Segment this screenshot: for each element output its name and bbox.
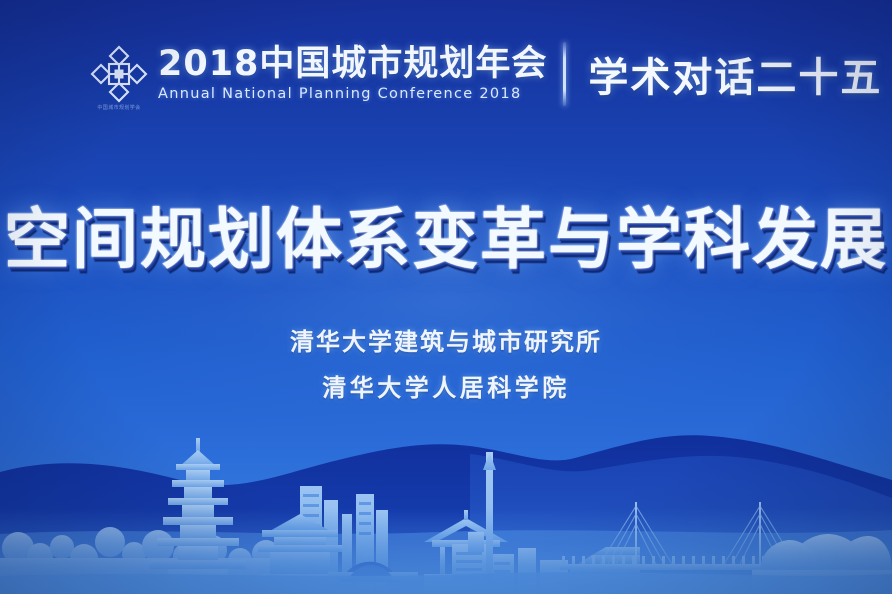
page-title: 空间规划体系变革与学科发展 — [0, 186, 892, 282]
slide-header: 中国城市规划学会 2018中国城市规划年会 Annual National Pl… — [88, 36, 882, 112]
conference-title-en: Annual National Planning Conference 2018 — [158, 86, 547, 102]
planning-society-compass-emblem-icon: 中国城市规划学会 — [88, 43, 150, 105]
header-divider — [563, 42, 566, 106]
session-label: 学术对话二十五 — [588, 45, 882, 103]
foreground-ground — [0, 572, 892, 594]
presentation-slide: 中国城市规划学会 2018中国城市规划年会 Annual National Pl… — [0, 0, 892, 594]
logo-caption: 中国城市规划学会 — [88, 104, 150, 111]
affiliation-group: 清华大学建筑与城市研究所 清华大学人居科学院 — [0, 330, 892, 400]
city-landscape-silhouette — [0, 414, 892, 594]
conference-title-group: 2018中国城市规划年会 Annual National Planning Co… — [158, 46, 547, 103]
conference-title-cn: 2018中国城市规划年会 — [158, 46, 547, 84]
affiliation-line: 清华大学人居科学院 — [0, 376, 892, 400]
affiliation-line: 清华大学建筑与城市研究所 — [0, 330, 892, 354]
